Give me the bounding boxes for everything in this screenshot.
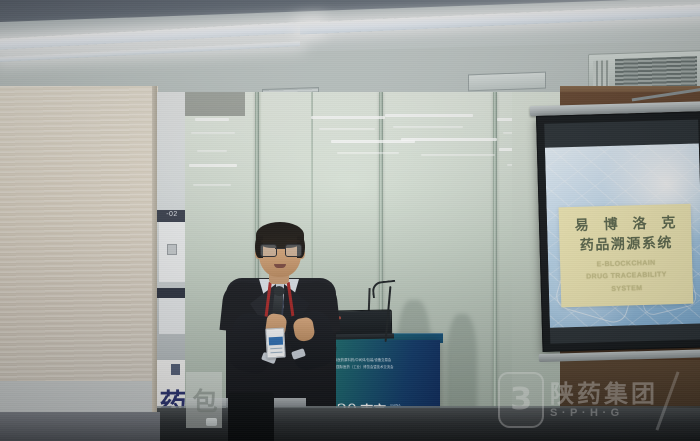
eyeglass-lens-left bbox=[260, 244, 277, 257]
badge-text-line bbox=[270, 348, 282, 350]
slide-title-card: 易 博 洛 克 药品溯源系统 E-BLOCKCHAIN DRUG TRACEAB… bbox=[559, 204, 694, 308]
foreground-dark-object bbox=[228, 392, 274, 441]
glass-reflection bbox=[385, 114, 473, 117]
slide-subtitle-en-line2: DRUG TRACEABILITY bbox=[586, 271, 667, 283]
glass-reflection bbox=[197, 150, 227, 152]
glass-reflection bbox=[393, 126, 463, 128]
id-badge bbox=[265, 328, 286, 359]
glass-reflection bbox=[189, 164, 237, 167]
glass-reflection bbox=[191, 132, 235, 134]
slide-subtitle-en-line3: SYSTEM bbox=[611, 284, 642, 295]
air-vent-icon bbox=[468, 72, 546, 92]
badge-text-line bbox=[270, 351, 282, 353]
wall-switch-icon[interactable] bbox=[167, 244, 177, 255]
slide-title-cn-line1: 易 博 洛 克 bbox=[570, 215, 681, 236]
glass-reflection bbox=[401, 138, 497, 141]
glass-reflection bbox=[195, 118, 229, 121]
glass-reflection bbox=[421, 154, 495, 156]
gooseneck-microphone-icon bbox=[371, 280, 397, 298]
corridor-wall-panel bbox=[159, 298, 185, 334]
left-wall-panel bbox=[0, 86, 158, 441]
floor-left-section bbox=[0, 412, 160, 441]
glass-reflection bbox=[193, 184, 231, 186]
left-banner-character-2: 包 bbox=[188, 382, 222, 422]
presentation-slide: 易 博 洛 克 药品溯源系统 E-BLOCKCHAIN DRUG TRACEAB… bbox=[545, 143, 700, 327]
ac-grille bbox=[615, 56, 697, 89]
corridor-gap-column: -02 药 bbox=[157, 92, 187, 441]
eyeglass-lens-right bbox=[285, 244, 302, 257]
glass-reflection bbox=[337, 152, 399, 154]
screen-surface: 易 博 洛 克 药品溯源系统 E-BLOCKCHAIN DRUG TRACEAB… bbox=[544, 119, 700, 343]
banner-top-icon bbox=[171, 364, 180, 375]
corridor-dark-band bbox=[157, 288, 187, 298]
door-number-label: -02 bbox=[157, 208, 187, 222]
slide-subtitle-en-line1: E-BLOCKCHAIN bbox=[597, 259, 656, 271]
badge-color-band bbox=[268, 337, 282, 346]
screen-frame: 易 博 洛 克 药品溯源系统 E-BLOCKCHAIN DRUG TRACEAB… bbox=[536, 111, 700, 352]
projector-screen: 易 博 洛 克 药品溯源系统 E-BLOCKCHAIN DRUG TRACEAB… bbox=[536, 111, 700, 356]
glass-reflection bbox=[311, 116, 385, 119]
glass-reflection bbox=[319, 128, 375, 130]
presentation-photo-scene: -02 药 bbox=[0, 0, 700, 441]
glass-mullion bbox=[493, 92, 497, 441]
ac-side-louver bbox=[593, 60, 609, 89]
eyeglass-bridge bbox=[275, 248, 285, 249]
slide-title-cn-line2: 药品溯源系统 bbox=[578, 235, 673, 255]
eyeglasses-icon bbox=[260, 244, 300, 255]
